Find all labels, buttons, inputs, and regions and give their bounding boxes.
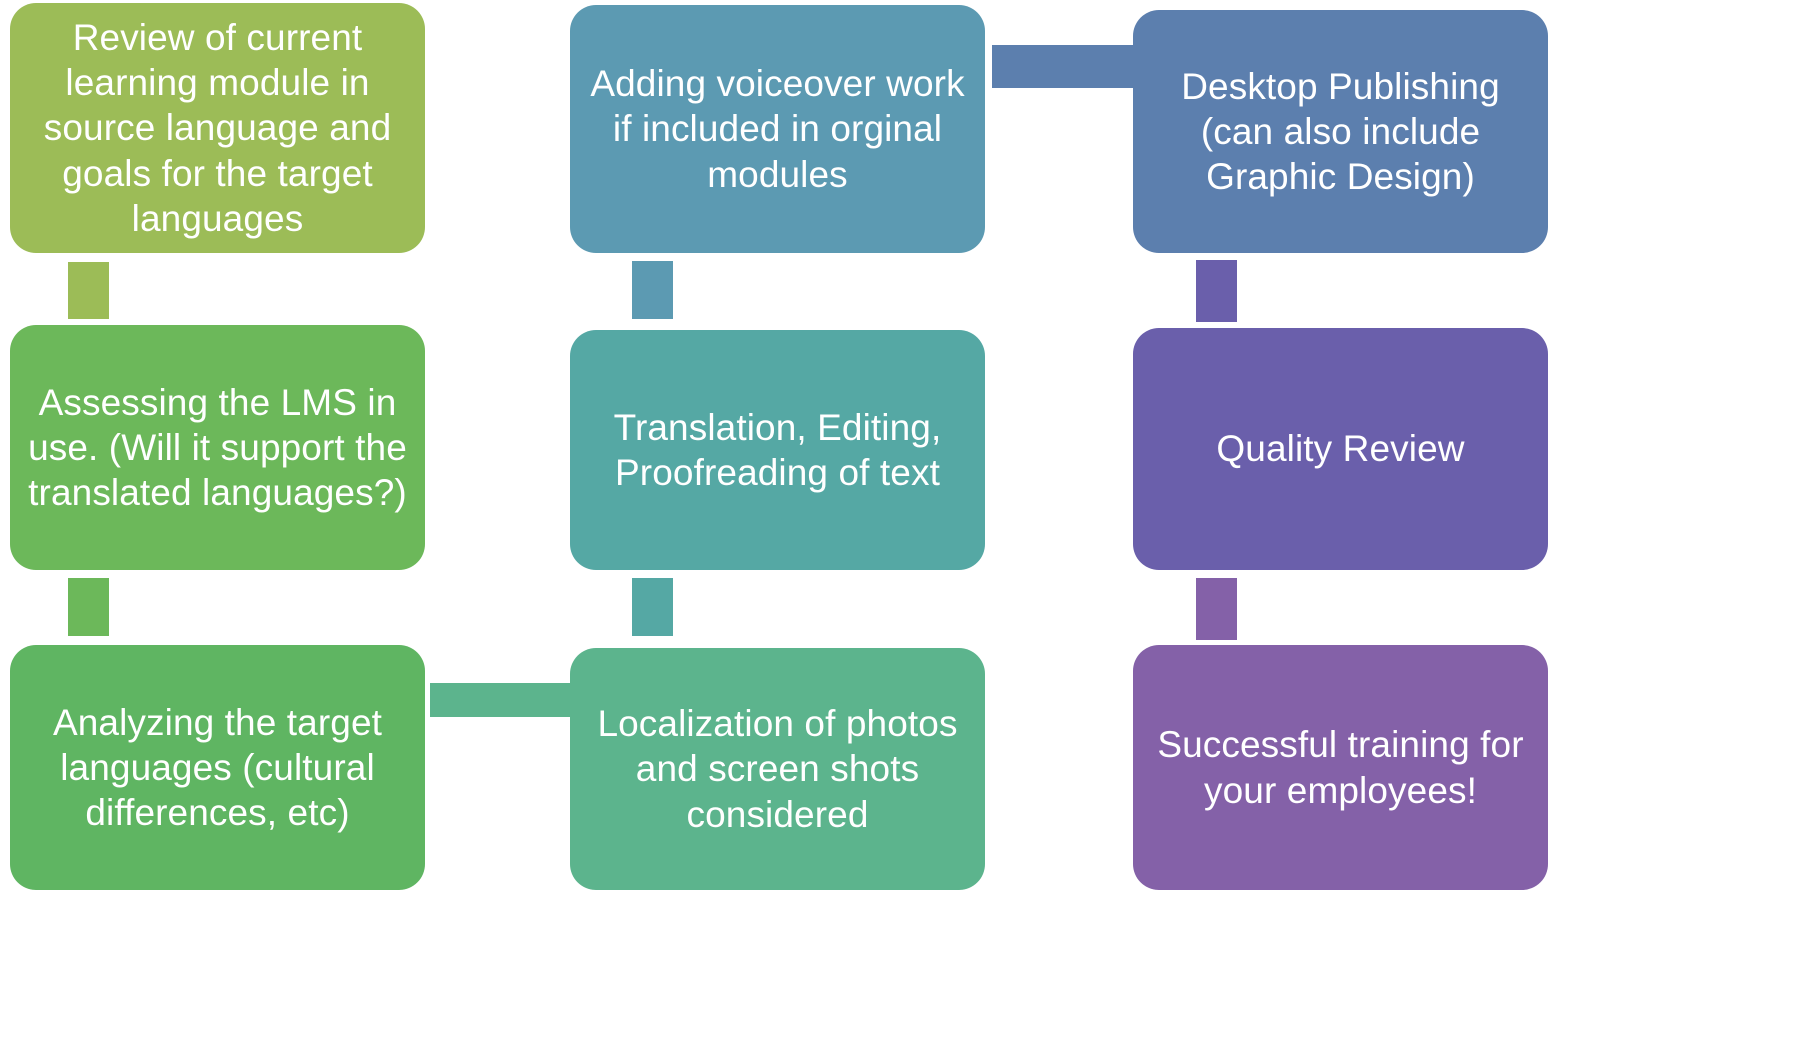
flow-node-quality-review[interactable]: Quality Review [1133,328,1548,570]
flow-node-translation-editing-proofreading[interactable]: Translation, Editing, Proofreading of te… [570,330,985,570]
flow-node-label: Quality Review [1151,426,1530,471]
connector-desktop-publishing-to-quality-review [1196,260,1237,322]
connector-voiceover-to-desktop-publishing [992,45,1137,88]
flow-node-adding-voiceover[interactable]: Adding voiceover work if included in org… [570,5,985,253]
connector-quality-review-to-success [1196,578,1237,640]
flow-node-label: Translation, Editing, Proofreading of te… [588,405,967,495]
connector-analyzing-to-localization [430,683,575,717]
flow-node-analyzing-target-languages[interactable]: Analyzing the target languages (cultural… [10,645,425,890]
flow-node-label: Successful training for your employees! [1151,722,1530,812]
flow-node-localization-photos-screenshots[interactable]: Localization of photos and screen shots … [570,648,985,890]
flow-node-label: Adding voiceover work if included in org… [588,61,967,196]
flowchart-canvas: Review of current learning module in sou… [0,0,1820,1059]
connector-lms-to-analyzing [68,578,109,636]
flow-node-review-current-module[interactable]: Review of current learning module in sou… [10,3,425,253]
flow-node-label: Review of current learning module in sou… [28,15,407,241]
flow-node-assessing-lms[interactable]: Assessing the LMS in use. (Will it suppo… [10,325,425,570]
flow-node-label: Assessing the LMS in use. (Will it suppo… [28,380,407,515]
flow-node-successful-training[interactable]: Successful training for your employees! [1133,645,1548,890]
flow-node-desktop-publishing[interactable]: Desktop Publishing (can also include Gra… [1133,10,1548,253]
connector-review-to-lms [68,262,109,319]
connector-voiceover-to-translation [632,261,673,319]
connector-translation-to-localization [632,578,673,636]
flow-node-label: Desktop Publishing (can also include Gra… [1151,64,1530,199]
flow-node-label: Localization of photos and screen shots … [588,701,967,836]
flow-node-label: Analyzing the target languages (cultural… [28,700,407,835]
